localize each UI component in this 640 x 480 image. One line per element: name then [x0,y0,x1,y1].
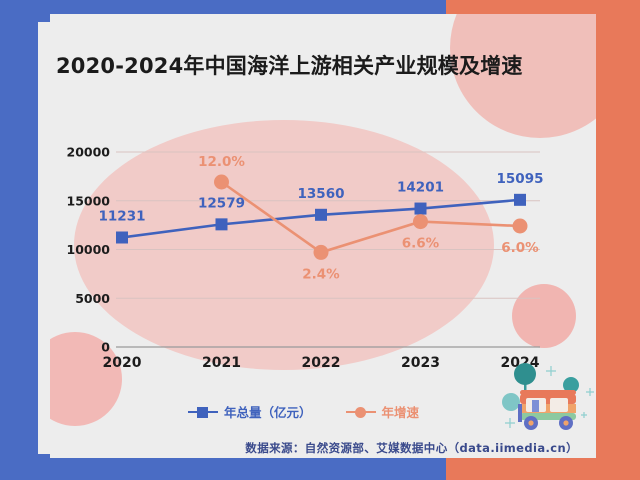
svg-text:2022: 2022 [302,355,341,371]
svg-text:2020: 2020 [103,355,142,371]
food-truck-illustration [498,360,608,442]
svg-text:5000: 5000 [75,291,110,306]
legend-square-icon [188,406,218,418]
svg-text:14201: 14201 [397,180,444,196]
svg-text:20000: 20000 [67,145,111,160]
svg-text:13560: 13560 [298,186,345,202]
bush-icon [502,393,520,411]
legend-label-growth: 年增速 [382,402,420,421]
svg-text:6.0%: 6.0% [501,240,539,256]
svg-text:15000: 15000 [67,193,111,208]
svg-text:2023: 2023 [401,355,440,371]
legend-item-growth[interactable]: 年增速 [346,402,420,421]
svg-text:11231: 11231 [99,208,146,224]
svg-text:0: 0 [101,340,110,355]
svg-text:10000: 10000 [67,242,111,257]
y-axis-tick-labels: 05000100001500020000 [67,145,111,355]
chart-legend: 年总量（亿元） 年增速 [188,402,419,421]
svg-text:12579: 12579 [198,195,245,211]
svg-text:12.0%: 12.0% [198,154,245,170]
svg-text:2.4%: 2.4% [302,266,340,282]
legend-label-total: 年总量（亿元） [224,402,312,421]
svg-text:15095: 15095 [497,171,544,187]
page-title: 2020-2024年中国海洋上游相关产业规模及增速 [56,50,523,80]
series-line-growth [222,182,521,252]
series-markers-growth [214,175,528,260]
data-labels-growth: 12.0%2.4%6.6%6.0% [198,154,539,282]
data-source-note: 数据来源：自然资源部、艾媒数据中心（data.iimedia.cn） [245,440,578,456]
x-axis-tick-labels: 20202021202220232024 [103,355,540,371]
legend-circle-icon [346,406,376,418]
poster-root: 2020-2024年中国海洋上游相关产业规模及增速 05000100001500… [0,0,640,480]
svg-text:2021: 2021 [202,355,241,371]
legend-item-total[interactable]: 年总量（亿元） [188,402,312,421]
svg-text:6.6%: 6.6% [402,236,440,252]
